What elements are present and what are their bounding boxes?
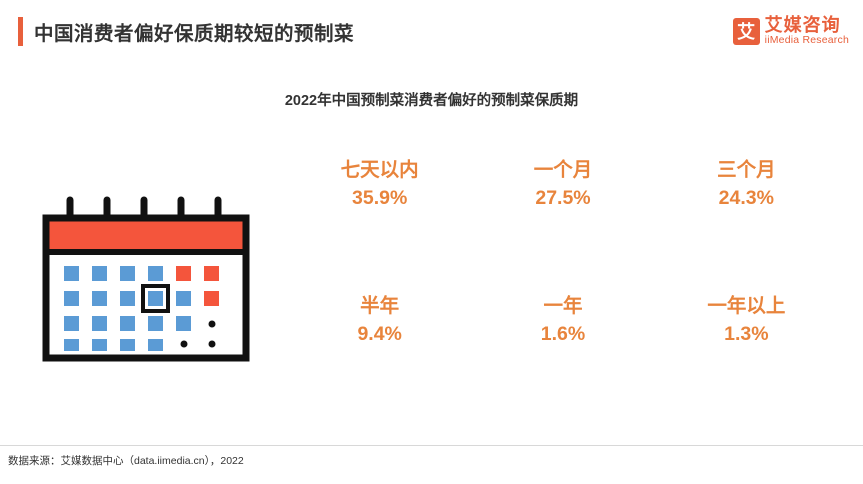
- data-cell-value: 35.9%: [288, 185, 471, 212]
- data-cell-label: 一个月: [471, 156, 654, 185]
- data-cell-label: 半年: [288, 292, 471, 321]
- data-cell-label: 一年以上: [655, 292, 838, 321]
- data-cell: 一年以上 1.3%: [655, 292, 838, 370]
- source-note: 数据来源：艾媒数据中心（data.iimedia.cn），2022: [8, 453, 244, 468]
- data-cell-value: 9.4%: [288, 321, 471, 348]
- data-cell-value: 1.3%: [655, 321, 838, 348]
- data-cell-label: 三个月: [655, 156, 838, 185]
- data-cell-value: 1.6%: [471, 321, 654, 348]
- chart-subtitle: 2022年中国预制菜消费者偏好的预制菜保质期: [0, 89, 863, 110]
- data-cell-label: 七天以内: [288, 156, 471, 185]
- title-accent-bar: [18, 17, 23, 46]
- data-cell: 三个月 24.3%: [655, 156, 838, 234]
- page-header: 中国消费者偏好保质期较短的预制菜 艾 艾媒咨询 iiMedia Research: [0, 0, 863, 62]
- logo-mark-icon: 艾: [733, 18, 760, 45]
- preference-data-grid: 七天以内 35.9% 一个月 27.5% 三个月 24.3% 半年 9.4% 一…: [288, 156, 838, 370]
- footer-divider: [0, 445, 863, 446]
- brand-logo: 艾 艾媒咨询 iiMedia Research: [733, 12, 849, 50]
- logo-text-cn: 艾媒咨询: [765, 16, 849, 35]
- data-cell-value: 27.5%: [471, 185, 654, 212]
- data-cell: 一个月 27.5%: [471, 156, 654, 234]
- data-cell: 七天以内 35.9%: [288, 156, 471, 234]
- logo-text: 艾媒咨询 iiMedia Research: [765, 16, 849, 46]
- logo-text-en: iiMedia Research: [765, 35, 849, 46]
- data-cell-label: 一年: [471, 292, 654, 321]
- calendar-svg: [42, 196, 262, 366]
- data-cell: 半年 9.4%: [288, 292, 471, 370]
- calendar-icon: [42, 196, 262, 371]
- data-cell: 一年 1.6%: [471, 292, 654, 370]
- data-cell-value: 24.3%: [655, 185, 838, 212]
- page-title: 中国消费者偏好保质期较短的预制菜: [34, 17, 354, 46]
